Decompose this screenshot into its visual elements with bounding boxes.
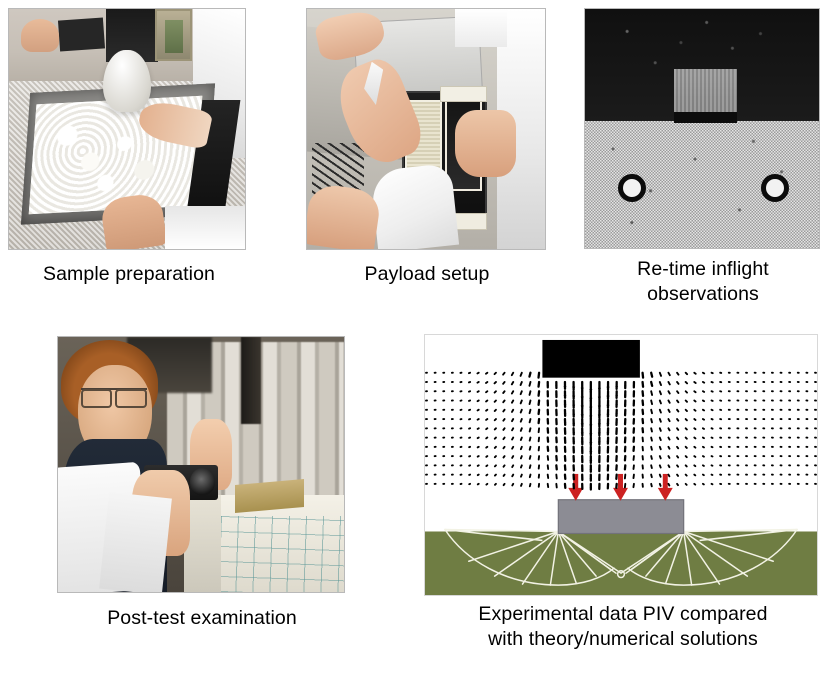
footing-base-shadow [674,112,737,123]
glasses [81,388,147,405]
piv-footing [542,340,640,378]
caption-piv-comparison: Experimental data PIV compared with theo… [430,602,816,652]
figure-sample-preparation [8,8,246,250]
figure-payload-setup [306,8,546,250]
figure-inflight-observations [584,8,820,249]
dark-tray-lid [58,17,105,51]
figure-post-test-examination [57,336,345,593]
background-pipe [241,337,261,424]
load-arrow-right [658,474,673,501]
soil-body [425,531,817,595]
caption-post-test-examination: Post-test examination [42,606,362,631]
figure-piv-comparison [424,334,818,596]
piv-diagram-svg [425,335,817,595]
caption-payload-setup: Payload setup [300,262,554,287]
lab-coat-sleeve [370,163,459,250]
sample-grid-lines [221,516,344,593]
piv-diagram [425,335,817,595]
footing-block [558,500,683,534]
caption-inflight-observations: Re-time inflight observations [572,257,834,307]
control-marker-left [618,174,646,202]
lab-coat-top [455,9,507,47]
sample-cone [103,50,150,112]
lab-coat-lower [99,492,172,593]
caption-sample-preparation: Sample preparation [0,262,258,287]
load-arrows [568,474,672,501]
strongbox-top-cap [440,86,487,102]
control-marker-right [761,174,789,202]
slide-canvas: Sample preparation Payload setup Re-time [0,0,840,674]
load-arrow-left [568,474,583,501]
specimen-jar [155,9,192,61]
lab-coat-bottom [165,206,245,249]
hand-right [455,110,517,177]
piv-vector-field [426,373,816,490]
hand-top-left [21,19,59,53]
